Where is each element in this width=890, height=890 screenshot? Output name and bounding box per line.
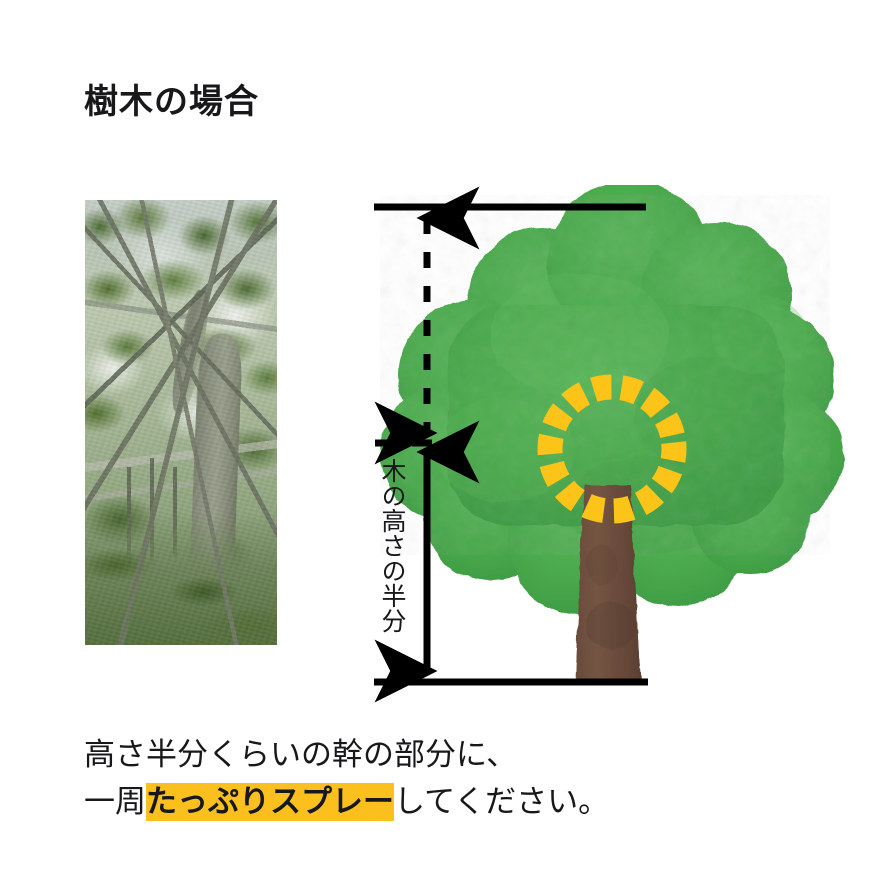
tree-illustration [380, 185, 844, 682]
caption-line-1: 高さ半分くらいの幹の部分に、 [84, 731, 609, 778]
tree-diagram [330, 185, 870, 705]
dimension-label: 木の高さの半分 [376, 458, 406, 633]
page-title: 樹木の場合 [84, 74, 259, 123]
caption-line-2-post: してください。 [394, 784, 609, 819]
caption-line-2: 一周たっぷりスプレーしてください。 [84, 778, 609, 825]
caption: 高さ半分くらいの幹の部分に、 一周たっぷりスプレーしてください。 [84, 731, 609, 825]
photo-grain-layer [85, 200, 277, 645]
caption-highlight: たっぷりスプレー [146, 783, 394, 821]
caption-line-2-pre: 一周 [84, 784, 146, 819]
tree-photo [85, 200, 277, 645]
